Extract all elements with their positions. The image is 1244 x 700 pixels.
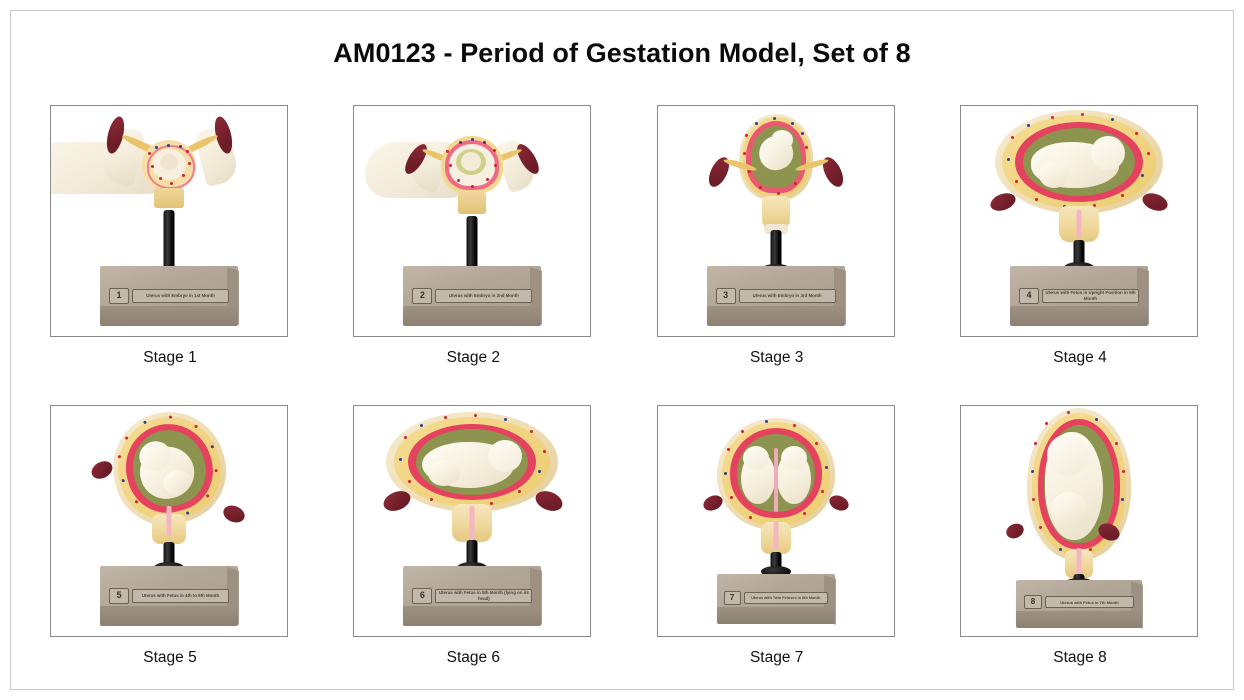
model-card-5[interactable]: 5 Uterus with Fetus in 4th to 5th Month (50, 405, 288, 637)
model-cell-4: 4 Uterus with Fetus in Upright Position … (960, 105, 1200, 367)
model-caption-4: Stage 4 (960, 349, 1200, 367)
model-base-3: 3 Uterus with Embryo in 3rd Month (707, 266, 845, 328)
page-title: AM0123 - Period of Gestation Model, Set … (0, 38, 1244, 69)
ovary-left (1004, 521, 1026, 541)
plate-number-6: 6 (412, 588, 432, 604)
embryo-cavity-3 (739, 114, 813, 200)
fetal-cavity-7 (717, 418, 835, 530)
uterus-stage-5 (89, 410, 249, 544)
plate-number-1: 1 (109, 288, 129, 304)
model-caption-5: Stage 5 (50, 649, 290, 667)
plate-number-3: 3 (716, 288, 736, 304)
model-cell-1: 1 Uterus with Embryo in 1st Month Stage … (50, 105, 290, 367)
model-photo-2: 2 Uterus with Embryo in 2nd Month (354, 106, 590, 336)
model-base-1: 1 Uterus with Embryo in 1st Month (100, 266, 238, 328)
model-card-7[interactable]: 7 Uterus with Twin Fetuses in 6th Month (657, 405, 895, 637)
model-cell-2: 2 Uterus with Embryo in 2nd Month Stage … (353, 105, 593, 367)
label-plate-3: 3 Uterus with Embryo in 3rd Month (716, 287, 836, 304)
model-base-4: 4 Uterus with Fetus in Upright Position … (1010, 266, 1148, 328)
uterus-stage-1 (94, 114, 244, 214)
label-plate-1: 1 Uterus with Embryo in 1st Month (109, 287, 229, 304)
plate-number-2: 2 (412, 288, 432, 304)
label-plate-5: 5 Uterus with Fetus in 4th to 5th Month (109, 587, 229, 604)
model-photo-3: 3 Uterus with Embryo in 3rd Month (658, 106, 894, 336)
plate-number-7: 7 (724, 591, 741, 605)
plate-text-3: Uterus with Embryo in 3rd Month (739, 289, 836, 303)
model-base-5: 5 Uterus with Fetus in 4th to 5th Month (100, 566, 238, 628)
plate-number-8: 8 (1024, 595, 1042, 609)
plate-text-6: Uterus with Fetus in 5th Month (lying on… (435, 589, 532, 603)
model-caption-6: Stage 6 (353, 649, 593, 667)
plate-text-4: Uterus with Fetus in Upright Position in… (1042, 289, 1139, 303)
poster-page: AM0123 - Period of Gestation Model, Set … (0, 0, 1244, 700)
model-card-3[interactable]: 3 Uterus with Embryo in 3rd Month (657, 105, 895, 337)
model-card-1[interactable]: 1 Uterus with Embryo in 1st Month (50, 105, 288, 337)
model-base-6: 6 Uterus with Fetus in 5th Month (lying … (403, 566, 541, 628)
label-plate-6: 6 Uterus with Fetus in 5th Month (lying … (412, 587, 532, 604)
embryo-cavity-1 (142, 140, 196, 190)
plate-text-2: Uterus with Embryo in 2nd Month (435, 289, 532, 303)
plate-number-5: 5 (109, 588, 129, 604)
model-cell-5: 5 Uterus with Fetus in 4th to 5th Month … (50, 405, 290, 667)
model-caption-3: Stage 3 (657, 349, 897, 367)
plate-text-7: Uterus with Twin Fetuses in 6th Month (744, 592, 828, 604)
label-plate-7: 7 Uterus with Twin Fetuses in 6th Month (724, 591, 828, 605)
uterus-stage-6 (377, 412, 567, 542)
model-grid: 1 Uterus with Embryo in 1st Month Stage … (50, 105, 1200, 667)
model-card-2[interactable]: 2 Uterus with Embryo in 2nd Month (353, 105, 591, 337)
model-cell-3: 3 Uterus with Embryo in 3rd Month Stage … (657, 105, 897, 367)
label-plate-4: 4 Uterus with Fetus in Upright Position … (1019, 287, 1139, 304)
model-photo-5: 5 Uterus with Fetus in 4th to 5th Month (51, 406, 287, 636)
plate-number-4: 4 (1019, 288, 1039, 304)
support-post-1 (164, 210, 175, 272)
model-card-4[interactable]: 4 Uterus with Fetus in Upright Position … (960, 105, 1198, 337)
model-caption-8: Stage 8 (960, 649, 1200, 667)
embryo-cavity-2 (441, 136, 503, 194)
model-photo-7: 7 Uterus with Twin Fetuses in 6th Month (658, 406, 894, 636)
uterus-stage-2 (397, 120, 547, 220)
model-photo-8: 8 Uterus with Fetus in 7th Month (961, 406, 1197, 636)
plate-text-8: Uterus with Fetus in 7th Month (1045, 596, 1134, 608)
plate-text-1: Uterus with Embryo in 1st Month (132, 289, 229, 303)
label-plate-2: 2 Uterus with Embryo in 2nd Month (412, 287, 532, 304)
model-cell-8: 8 Uterus with Fetus in 7th Month Stage 8 (960, 405, 1200, 667)
uterus-stage-4 (984, 110, 1174, 240)
model-card-8[interactable]: 8 Uterus with Fetus in 7th Month (960, 405, 1198, 637)
plate-text-5: Uterus with Fetus in 4th to 5th Month (132, 589, 229, 603)
uterus-stage-7 (701, 418, 851, 554)
support-post-2 (467, 216, 478, 272)
model-cell-7: 7 Uterus with Twin Fetuses in 6th Month … (657, 405, 897, 667)
model-caption-1: Stage 1 (50, 349, 290, 367)
model-grid-row-1: 1 Uterus with Embryo in 1st Month Stage … (50, 105, 1200, 367)
model-photo-1: 1 Uterus with Embryo in 1st Month (51, 106, 287, 336)
model-card-6[interactable]: 6 Uterus with Fetus in 5th Month (lying … (353, 405, 591, 637)
uterus-stage-3 (701, 112, 851, 230)
model-photo-4: 4 Uterus with Fetus in Upright Position … (961, 106, 1197, 336)
model-base-2: 2 Uterus with Embryo in 2nd Month (403, 266, 541, 328)
label-plate-8: 8 Uterus with Fetus in 7th Month (1024, 595, 1134, 609)
model-photo-6: 6 Uterus with Fetus in 5th Month (lying … (354, 406, 590, 636)
uterus-stage-8 (1004, 408, 1154, 578)
model-grid-row-2: 5 Uterus with Fetus in 4th to 5th Month … (50, 405, 1200, 667)
model-caption-2: Stage 2 (353, 349, 593, 367)
model-base-7: 7 Uterus with Twin Fetuses in 6th Month (717, 574, 835, 626)
model-cell-6: 6 Uterus with Fetus in 5th Month (lying … (353, 405, 593, 667)
model-caption-7: Stage 7 (657, 649, 897, 667)
fetal-cavity-6 (386, 412, 558, 512)
fetal-cavity-4 (995, 110, 1163, 214)
model-base-8: 8 Uterus with Fetus in 7th Month (1016, 580, 1142, 630)
